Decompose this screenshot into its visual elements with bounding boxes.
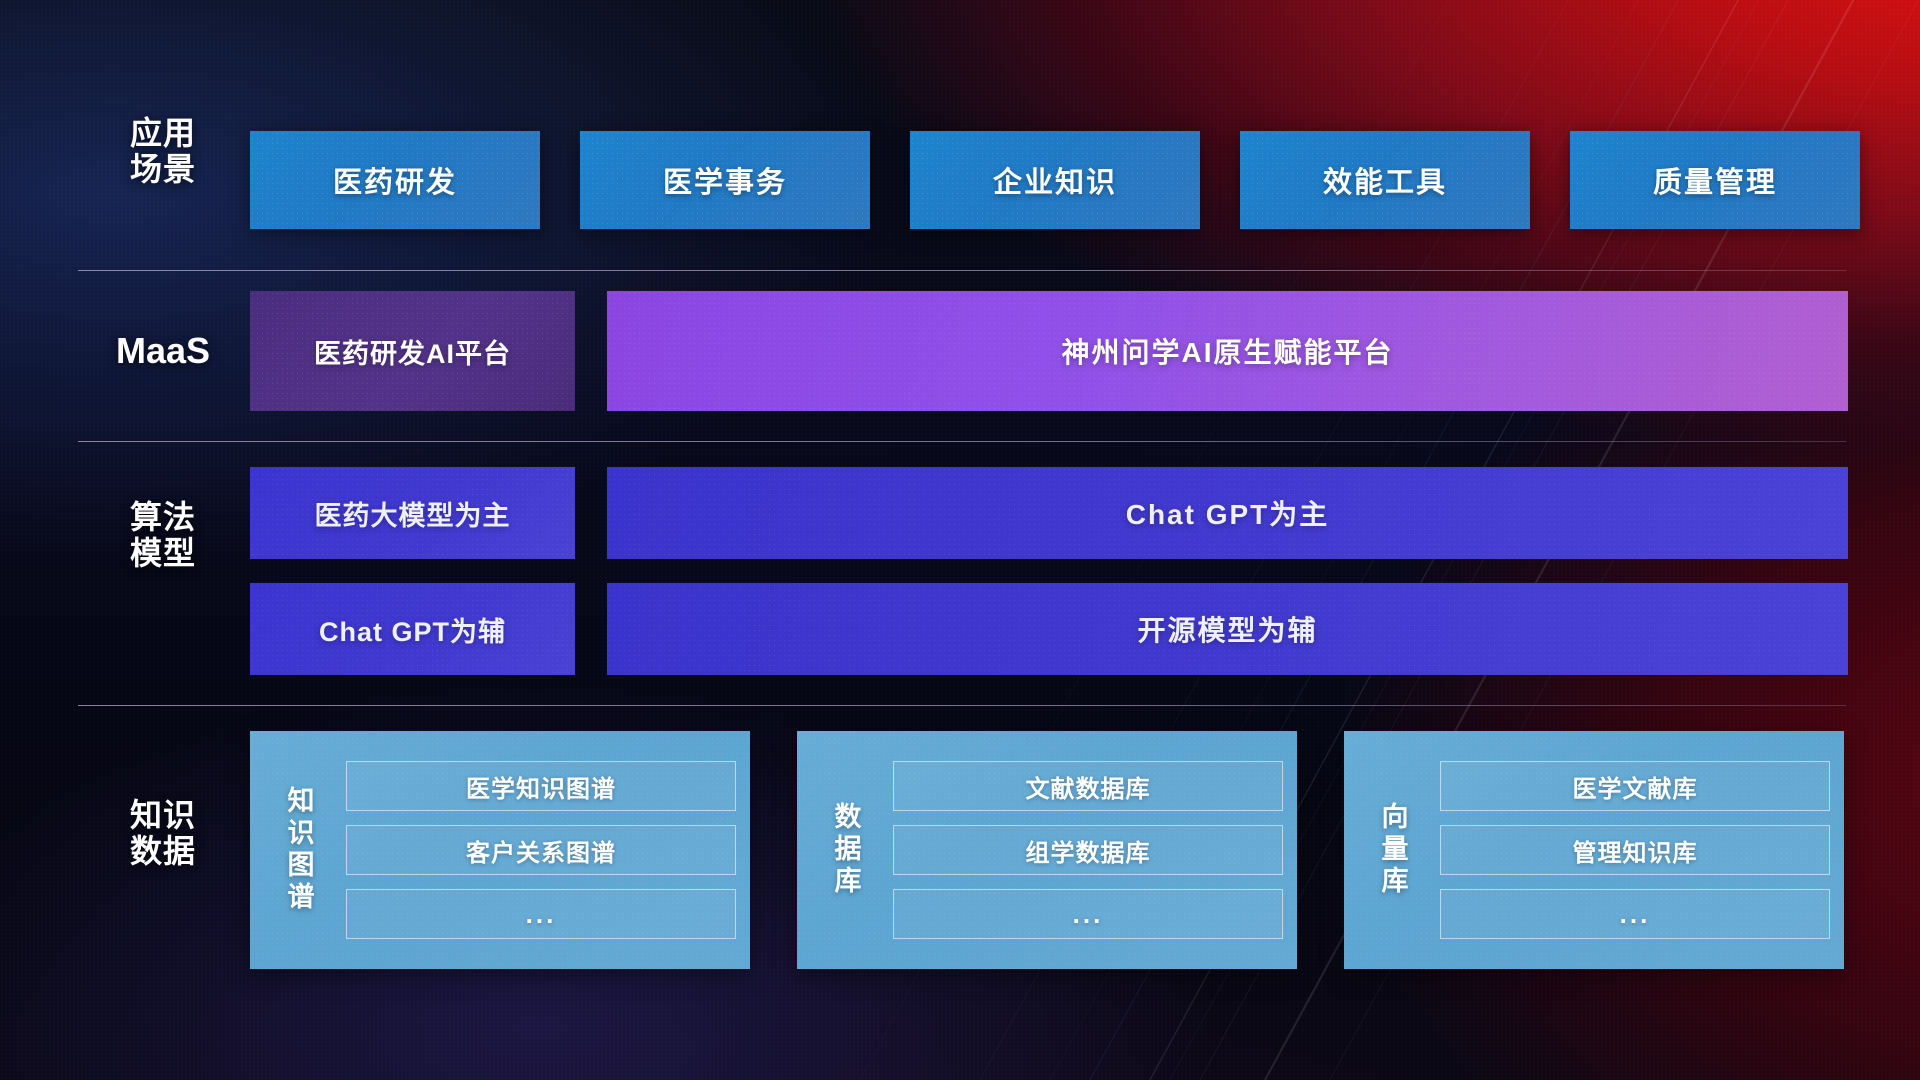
- row-label-line: MaaS: [78, 331, 248, 371]
- app-box-label: 医学事务: [663, 159, 787, 201]
- vertical-label-char: 量: [1366, 834, 1424, 866]
- maas-box-label: 神州问学AI原生赋能平台: [1061, 331, 1393, 371]
- app-box-medicine-rd[interactable]: 医药研发: [250, 131, 540, 229]
- vertical-label-char: 谱: [272, 882, 330, 914]
- application-scenarios-row: 医药研发 医学事务 企业知识 效能工具 质量管理: [250, 131, 1860, 229]
- knowledge-item[interactable]: 医学知识图谱: [346, 761, 736, 811]
- algorithm-model-line-secondary: Chat GPT为辅 开源模型为辅: [250, 583, 1848, 675]
- knowledge-item[interactable]: 管理知识库: [1440, 825, 1830, 875]
- algorithm-model-row: 医药大模型为主 Chat GPT为主 Chat GPT为辅 开源模型为辅: [250, 467, 1848, 699]
- app-box-efficiency-tools[interactable]: 效能工具: [1240, 131, 1530, 229]
- vertical-label-char: 图: [272, 850, 330, 882]
- algo-box-pharma-large-model-primary[interactable]: 医药大模型为主: [250, 467, 575, 559]
- knowledge-data-row: 知 识 图 谱 医学知识图谱 客户关系图谱 ... 数 据 库 文献数据库 组学…: [250, 731, 1844, 969]
- knowledge-panel-knowledge-graph[interactable]: 知 识 图 谱 医学知识图谱 客户关系图谱 ...: [250, 731, 750, 969]
- algo-box-opensource-secondary[interactable]: 开源模型为辅: [607, 583, 1848, 675]
- vertical-label-char: 库: [819, 866, 877, 898]
- row-label-maas: MaaS: [78, 331, 248, 371]
- algo-box-chatgpt-primary[interactable]: Chat GPT为主: [607, 467, 1848, 559]
- knowledge-item[interactable]: 组学数据库: [893, 825, 1283, 875]
- knowledge-panel-vector-store[interactable]: 向 量 库 医学文献库 管理知识库 ...: [1344, 731, 1844, 969]
- vertical-label-char: 识: [272, 818, 330, 850]
- maas-box-shenzhou-wenxue-platform[interactable]: 神州问学AI原生赋能平台: [607, 291, 1848, 411]
- divider-after-algorithm-model: [78, 705, 1846, 706]
- knowledge-item[interactable]: 文献数据库: [893, 761, 1283, 811]
- divider-after-maas: [78, 441, 1846, 442]
- algo-box-label: Chat GPT为辅: [319, 610, 506, 649]
- algo-box-label: 开源模型为辅: [1137, 609, 1317, 649]
- knowledge-item[interactable]: 医学文献库: [1440, 761, 1830, 811]
- knowledge-panel-database[interactable]: 数 据 库 文献数据库 组学数据库 ...: [797, 731, 1297, 969]
- app-box-medical-affairs[interactable]: 医学事务: [580, 131, 870, 229]
- knowledge-panel-items: 医学知识图谱 客户关系图谱 ...: [346, 761, 736, 939]
- maas-row: 医药研发AI平台 神州问学AI原生赋能平台: [250, 291, 1848, 411]
- knowledge-item-more[interactable]: ...: [346, 889, 736, 939]
- app-box-quality-management[interactable]: 质量管理: [1570, 131, 1860, 229]
- divider-after-application-scenarios: [78, 270, 1846, 271]
- knowledge-panel-vertical-label: 知 识 图 谱: [272, 786, 330, 913]
- algo-box-label: Chat GPT为主: [1126, 493, 1330, 533]
- app-box-label: 质量管理: [1653, 159, 1777, 201]
- slide-canvas: 应用 场景 医药研发 医学事务 企业知识 效能工具 质量管理 MaaS 医药研发…: [0, 0, 1920, 1080]
- knowledge-item-more[interactable]: ...: [893, 889, 1283, 939]
- app-box-label: 医药研发: [333, 159, 457, 201]
- vertical-label-char: 知: [272, 786, 330, 818]
- algo-box-label: 医药大模型为主: [315, 494, 511, 533]
- row-label-line: 算法: [78, 500, 248, 536]
- row-label-line: 场景: [78, 152, 248, 188]
- algo-box-chatgpt-secondary[interactable]: Chat GPT为辅: [250, 583, 575, 675]
- vertical-label-char: 向: [1366, 802, 1424, 834]
- row-label-application-scenarios: 应用 场景: [78, 116, 248, 188]
- vertical-label-char: 据: [819, 834, 877, 866]
- vertical-label-char: 数: [819, 802, 877, 834]
- app-box-enterprise-knowledge[interactable]: 企业知识: [910, 131, 1200, 229]
- maas-box-label: 医药研发AI平台: [314, 332, 511, 371]
- app-box-label: 企业知识: [993, 159, 1117, 201]
- row-label-algorithm-model: 算法 模型: [78, 500, 248, 572]
- row-label-knowledge-data: 知识 数据: [78, 798, 248, 870]
- row-label-line: 应用: [78, 116, 248, 152]
- knowledge-panel-items: 文献数据库 组学数据库 ...: [893, 761, 1283, 939]
- row-label-line: 模型: [78, 536, 248, 572]
- maas-box-pharma-ai-platform[interactable]: 医药研发AI平台: [250, 291, 575, 411]
- vertical-label-char: 库: [1366, 866, 1424, 898]
- knowledge-panel-vertical-label: 数 据 库: [819, 802, 877, 898]
- row-label-line: 知识: [78, 798, 248, 834]
- knowledge-item[interactable]: 客户关系图谱: [346, 825, 736, 875]
- row-label-line: 数据: [78, 834, 248, 870]
- algorithm-model-line-primary: 医药大模型为主 Chat GPT为主: [250, 467, 1848, 559]
- knowledge-panel-vertical-label: 向 量 库: [1366, 802, 1424, 898]
- knowledge-panel-items: 医学文献库 管理知识库 ...: [1440, 761, 1830, 939]
- app-box-label: 效能工具: [1323, 159, 1447, 201]
- knowledge-item-more[interactable]: ...: [1440, 889, 1830, 939]
